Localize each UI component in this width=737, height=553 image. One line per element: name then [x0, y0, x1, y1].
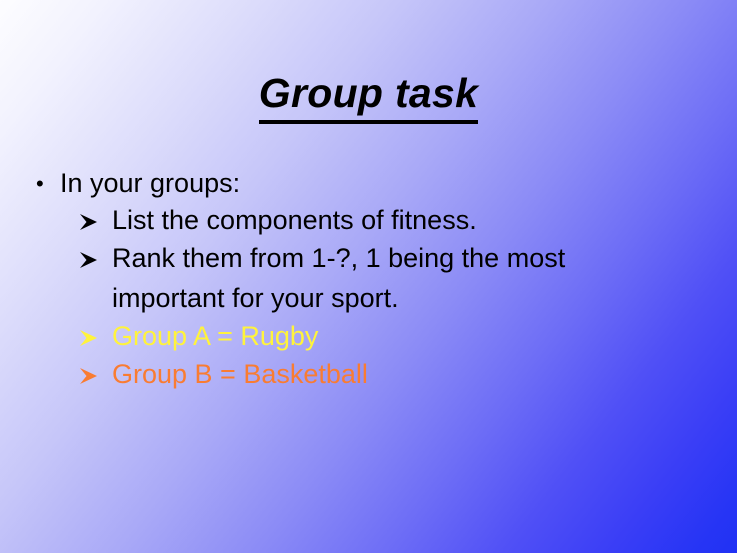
- list-item: Rank them from 1-?, 1 being the most imp…: [78, 239, 704, 317]
- page-title: Group task: [259, 72, 478, 124]
- list-item-lead-label: In your groups:: [60, 168, 704, 199]
- slide-body-list: • In your groups: List the components of…: [36, 168, 704, 393]
- arrow-bullet-icon: [78, 317, 112, 348]
- list-item-lead: • In your groups:: [36, 168, 704, 199]
- list-item-group-a: Group A = Rugby: [78, 317, 704, 356]
- list-item-label: List the components of fitness.: [112, 201, 672, 240]
- list-item-label: Rank them from 1-?, 1 being the most imp…: [112, 239, 672, 317]
- list-item-group-b: Group B = Basketball: [78, 355, 704, 394]
- round-bullet-icon: •: [36, 168, 60, 199]
- list-item-group-a-label: Group A = Rugby: [112, 317, 672, 356]
- arrow-bullet-icon: [78, 355, 112, 386]
- arrow-bullet-icon: [78, 201, 112, 232]
- list-item-group-b-label: Group B = Basketball: [112, 355, 672, 394]
- slide-title-block: Group task: [0, 72, 737, 124]
- slide-canvas: Group task • In your groups: List the co…: [0, 0, 737, 553]
- arrow-bullet-icon: [78, 239, 112, 270]
- list-item: List the components of fitness.: [78, 201, 704, 240]
